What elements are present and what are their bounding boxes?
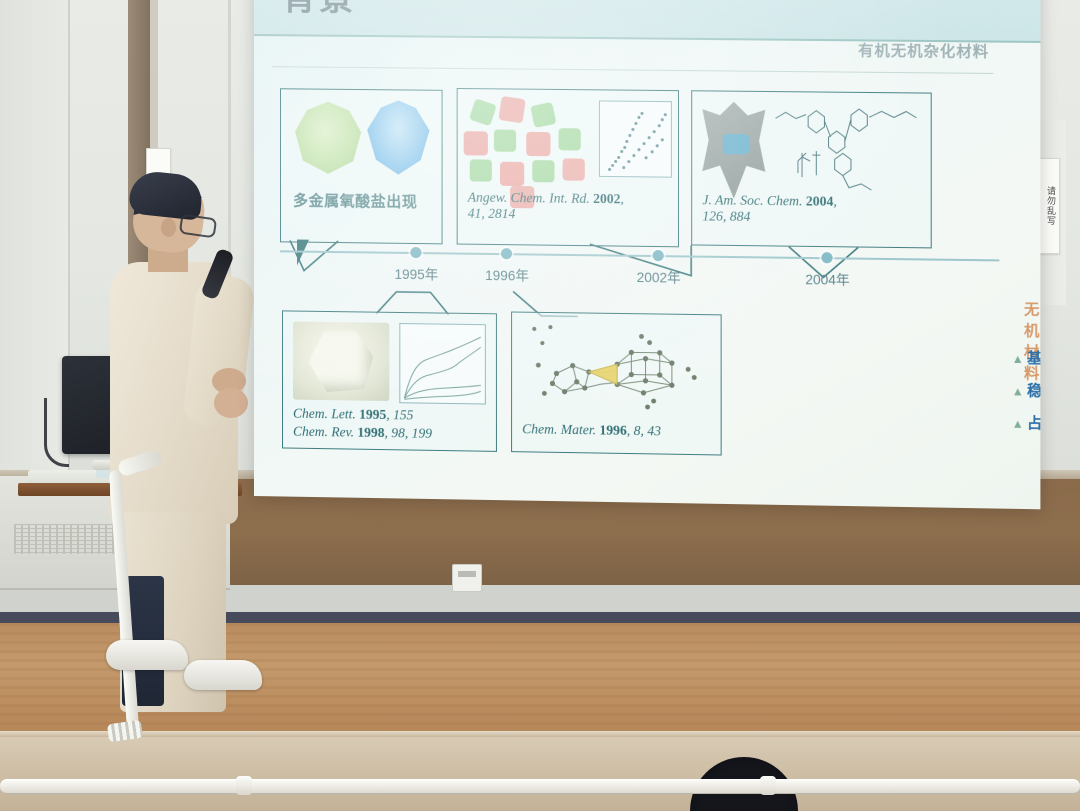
triangle-marker-icon: ▲ xyxy=(1012,417,1024,431)
organic-ligand-structure-icon xyxy=(771,100,924,199)
inorganic-materials-title: 无机材料 xyxy=(1024,298,1040,383)
journal-page: 2814 xyxy=(488,206,515,221)
front-railing xyxy=(0,779,1080,794)
isotherm-plot-thumbnail xyxy=(399,323,486,405)
timeline-label-2002: 2002年 xyxy=(637,266,681,287)
journal-volume: 8 xyxy=(634,423,641,438)
section-label: 有机无机杂化材料 xyxy=(858,39,989,61)
timeline-dot[interactable] xyxy=(410,247,421,258)
timeline-label-2004: 2004年 xyxy=(805,268,849,289)
screenshot-root: 请勿乱写 请勿乱写 背景 xyxy=(0,0,1080,811)
callout-polyoxometalate: 多金属氧酸盐出现 xyxy=(280,88,443,244)
timeline-dot[interactable] xyxy=(821,252,832,263)
callout-caption: 多金属氧酸盐出现 xyxy=(293,193,417,210)
wall-outlet[interactable] xyxy=(452,564,482,592)
journal-page: 884 xyxy=(730,209,751,224)
callout-caption-line1: Chem. Lett. 1995, 155 xyxy=(293,406,490,425)
journal-page-2: 199 xyxy=(412,425,432,440)
journal-year: 1996 xyxy=(599,422,626,438)
presenter-shoe xyxy=(184,660,262,690)
slide-title: 背景 xyxy=(282,0,356,20)
journal-name: J. Am. Soc. Chem. xyxy=(702,192,802,208)
callout-angew-2002: Angew. Chem. Int. Rd. 2002, 41, 2814 xyxy=(457,88,679,247)
bullet-label-2: 稳定性低 xyxy=(1027,382,1040,400)
callout-tail-line xyxy=(280,236,340,273)
timeline-dot[interactable] xyxy=(653,250,664,261)
journal-year: 2002 xyxy=(593,191,620,206)
sem-image-thumbnail xyxy=(293,322,389,402)
callout-caption: Angew. Chem. Int. Rd. 2002, 41, 2814 xyxy=(468,189,670,224)
keggin-cluster-blue-icon xyxy=(367,100,429,175)
callout-chem-lett-1995: Chem. Lett. 1995, 155 Chem. Rev. 1998, 9… xyxy=(282,310,497,452)
timeline-label-1995: 1995年 xyxy=(395,263,439,284)
callout-chem-mater-1996: Chem. Mater. 1996, 8, 43 xyxy=(511,312,722,456)
bullet-label-1: 基于离子键 xyxy=(1027,350,1040,368)
keggin-cluster-green-icon xyxy=(295,101,361,174)
triangle-marker-icon: ▲ xyxy=(1012,352,1024,366)
presenter-hair xyxy=(128,169,204,220)
journal-year-1: 1995 xyxy=(359,407,386,422)
railing-joint xyxy=(760,776,776,795)
presenter-ear xyxy=(161,218,176,237)
presenter-shoe xyxy=(106,640,188,670)
callout-caption: J. Am. Soc. Chem. 2004, 126, 884 xyxy=(702,192,926,227)
presenter-hand-gesture xyxy=(214,388,248,418)
monitor-cable xyxy=(44,398,69,467)
railing-joint xyxy=(236,776,252,795)
journal-name: Angew. Chem. Int. Rd. xyxy=(468,189,590,205)
bullet-item-2: ▲稳定性低 xyxy=(1012,379,1041,401)
bullet-item-1: ▲基于离子键 xyxy=(1012,347,1041,370)
triangle-marker-icon: ▲ xyxy=(1012,384,1024,398)
timeline-dot[interactable] xyxy=(501,248,512,259)
slide-header-band xyxy=(254,0,1040,43)
front-floor xyxy=(0,737,1080,811)
journal-name-1: Chem. Lett. xyxy=(293,406,356,422)
cluster-molecular-structure-icon xyxy=(520,321,712,416)
journal-volume: 126 xyxy=(702,208,723,223)
journal-year-2: 1998 xyxy=(357,425,384,440)
journal-volume-2: 98 xyxy=(391,425,405,440)
journal-name: Chem. Mater. xyxy=(522,421,596,437)
journal-name-2: Chem. Rev. xyxy=(293,424,354,440)
projected-slide: 背景 有机无机杂化材料 多金属氧酸盐出现 xyxy=(254,0,1040,509)
journal-volume: 41 xyxy=(468,206,482,221)
scatter-plot-thumbnail xyxy=(599,100,672,177)
timeline-label-1996: 1996年 xyxy=(485,264,529,285)
journal-page: 43 xyxy=(647,423,661,438)
callout-caption-line2: Chem. Rev. 1998, 98, 199 xyxy=(293,424,490,443)
callout-caption: Chem. Mater. 1996, 8, 43 xyxy=(522,421,714,440)
callout-jacs-2004: J. Am. Soc. Chem. 2004, 126, 884 xyxy=(691,90,932,248)
header-divider xyxy=(272,66,993,74)
bullet-item-3: ▲占孔物种不可脱除 xyxy=(1012,412,1041,435)
journal-page-1: 155 xyxy=(393,407,413,422)
journal-year: 2004 xyxy=(806,193,834,208)
bullet-label-3: 占孔物种不可脱除 xyxy=(1027,415,1040,434)
